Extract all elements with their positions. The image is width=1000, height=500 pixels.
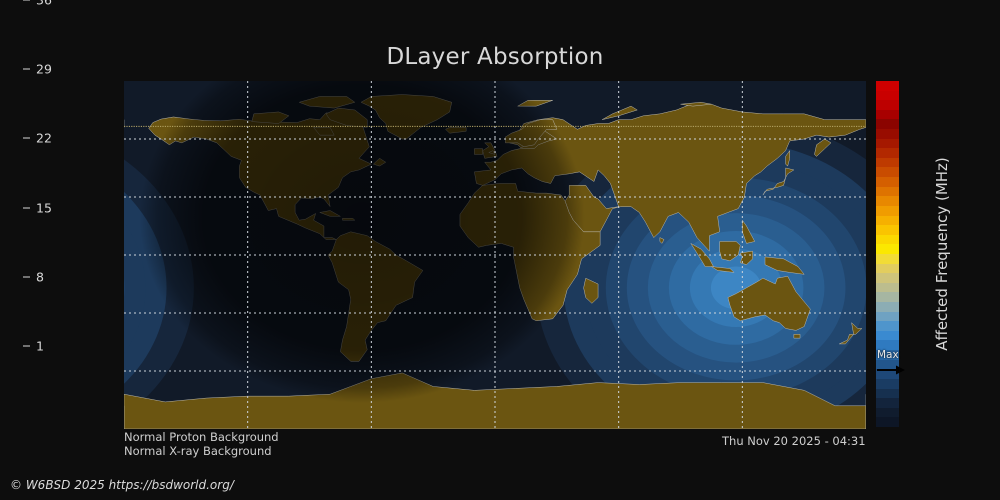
colorbar-band bbox=[876, 100, 899, 110]
colorbar-band bbox=[876, 129, 899, 139]
colorbar-band bbox=[876, 283, 899, 293]
colorbar-gradient bbox=[876, 81, 899, 427]
colorbar-band bbox=[876, 110, 899, 120]
colorbar-band bbox=[876, 148, 899, 158]
colorbar-band bbox=[876, 216, 899, 226]
colorbar-band bbox=[876, 350, 899, 360]
colorbar-band bbox=[876, 408, 899, 418]
copyright: © W6BSD 2025 https://bsdworld.org/ bbox=[10, 478, 234, 492]
colorbar-band bbox=[876, 196, 899, 206]
colorbar-band bbox=[876, 369, 899, 379]
proton-background-note: Normal Proton Background bbox=[124, 430, 279, 444]
colorbar-band bbox=[876, 235, 899, 245]
colorbar-band bbox=[876, 340, 899, 350]
timestamp: Thu Nov 20 2025 - 04:31 bbox=[722, 434, 866, 448]
colorbar-band bbox=[876, 417, 899, 427]
colorbar-band bbox=[876, 379, 899, 389]
colorbar-band bbox=[876, 119, 899, 129]
colorbar-ticks: 3629221581 bbox=[23, 0, 83, 346]
colorbar-tick: 22 bbox=[23, 131, 52, 146]
colorbar-band bbox=[876, 244, 899, 254]
colorbar-band bbox=[876, 139, 899, 149]
colorbar-band bbox=[876, 254, 899, 264]
colorbar-band bbox=[876, 264, 899, 274]
colorbar-band bbox=[876, 273, 899, 283]
colorbar-band bbox=[876, 158, 899, 168]
colorbar-band bbox=[876, 389, 899, 399]
colorbar-tick: 15 bbox=[23, 200, 52, 215]
colorbar-band bbox=[876, 398, 899, 408]
world-map bbox=[124, 81, 866, 429]
colorbar-band bbox=[876, 167, 899, 177]
landmass bbox=[794, 334, 800, 338]
colorbar-band bbox=[876, 206, 899, 216]
colorbar-axis-label: Affected Frequency (MHz) bbox=[931, 81, 953, 427]
colorbar: Max bbox=[876, 81, 899, 427]
colorbar-band bbox=[876, 312, 899, 322]
colorbar-band bbox=[876, 177, 899, 187]
colorbar-band bbox=[876, 321, 899, 331]
colorbar-tick: 1 bbox=[23, 339, 44, 354]
colorbar-band bbox=[876, 360, 899, 370]
colorbar-band bbox=[876, 225, 899, 235]
colorbar-band bbox=[876, 81, 899, 91]
colorbar-band bbox=[876, 187, 899, 197]
colorbar-tick: 29 bbox=[23, 62, 52, 77]
colorbar-band bbox=[876, 91, 899, 101]
colorbar-tick: 36 bbox=[23, 0, 52, 8]
colorbar-band bbox=[876, 302, 899, 312]
colorbar-band bbox=[876, 292, 899, 302]
colorbar-band bbox=[876, 331, 899, 341]
page-title: DLayer Absorption bbox=[124, 44, 866, 70]
colorbar-tick: 8 bbox=[23, 269, 44, 284]
xray-background-note: Normal X-ray Background bbox=[124, 444, 272, 458]
